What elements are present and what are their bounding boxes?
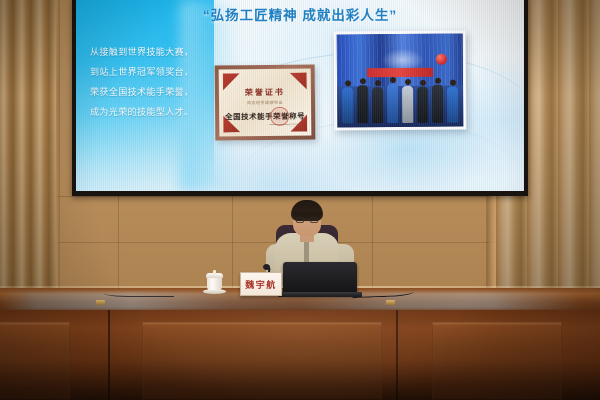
- photo-person: [387, 84, 398, 123]
- certificate-subtitle: 同志班学成绩突出: [219, 100, 311, 107]
- slide-title: “弘扬工匠精神 成就出彩人生”: [76, 4, 524, 24]
- wall-seam: [118, 196, 119, 292]
- certificate-image: 荣誉证书 同志班学成绩突出 全国技术能手荣誉称号: [215, 64, 316, 140]
- photo-person: [372, 87, 383, 123]
- stage-floor: [337, 86, 463, 128]
- wall-seam: [56, 196, 546, 197]
- slide-line-4: 成为光荣的技能型人才。: [90, 102, 208, 122]
- photo-person: [432, 85, 443, 123]
- curtain-left: [0, 0, 56, 318]
- desk-hardware: [96, 300, 105, 305]
- photo-person: [417, 87, 428, 123]
- stage-decor-sphere: [436, 54, 447, 65]
- slide-line-1: 从接触到世界技能大赛，: [90, 42, 208, 62]
- laptop-base: [278, 292, 362, 297]
- desk-front-inset: [0, 322, 70, 400]
- projection-screen: “弘扬工匠精神 成就出彩人生” 从接触到世界技能大赛， 到站上世界冠军领奖台， …: [76, 0, 524, 191]
- desk-nameplate-text: 魏宇航: [245, 278, 277, 291]
- projection-screen-frame: “弘扬工匠精神 成就出彩人生” 从接触到世界技能大赛， 到站上世界冠军领奖台， …: [72, 0, 528, 196]
- certificate-title: 荣誉证书: [219, 87, 311, 99]
- photo-person-head: [389, 77, 395, 83]
- slide-line-3: 荣获全国技术能手荣誉，: [90, 82, 208, 102]
- photo-person-head: [374, 80, 380, 86]
- desk-hardware: [386, 300, 395, 305]
- desk-front-divider: [108, 310, 110, 400]
- photo-person: [342, 87, 353, 123]
- group-photo-content: [337, 34, 464, 128]
- certificate-main-text: 全国技术能手荣誉称号: [219, 111, 311, 123]
- photo-person-head: [344, 80, 350, 86]
- desk-nameplate: 魏宇航: [240, 272, 282, 296]
- photo-person: [447, 87, 458, 123]
- eyeglasses-icon: [296, 217, 318, 223]
- photo-person: [402, 86, 413, 123]
- tea-cup-body: [207, 276, 222, 290]
- photo-person-head: [359, 78, 365, 84]
- photo-person-head: [419, 80, 425, 86]
- desk-front-inset: [142, 322, 382, 400]
- stage-banner: [367, 68, 433, 77]
- eyeglasses-lens-left: [296, 217, 304, 223]
- certificate-paper: 荣誉证书 同志班学成绩突出 全国技术能手荣誉称号: [219, 69, 312, 137]
- desk-front-inset: [432, 322, 562, 400]
- desk-front-divider: [396, 310, 398, 400]
- eyeglasses-lens-right: [310, 217, 318, 223]
- slide-body-text: 从接触到世界技能大赛， 到站上世界冠军领奖台， 荣获全国技术能手荣誉， 成为光荣…: [90, 42, 208, 122]
- group-photo: [334, 31, 467, 131]
- conference-room-photo: “弘扬工匠精神 成就出彩人生” 从接触到世界技能大赛， 到站上世界冠军领奖台， …: [0, 0, 600, 400]
- photo-person: [357, 85, 368, 123]
- wall-seam: [232, 196, 233, 292]
- certificate-seal-icon: [270, 107, 289, 126]
- photo-person-head: [404, 79, 410, 85]
- slide-line-2: 到站上世界冠军领奖台，: [90, 62, 208, 82]
- laptop-screen: [283, 262, 357, 295]
- wall-seam: [372, 196, 373, 292]
- tea-cup: [205, 270, 224, 292]
- tea-cup-knob: [213, 270, 216, 274]
- photo-person-head: [449, 80, 455, 86]
- desk-cable: [104, 288, 174, 297]
- curtain-shading: [0, 0, 56, 318]
- photo-person-head: [434, 78, 440, 84]
